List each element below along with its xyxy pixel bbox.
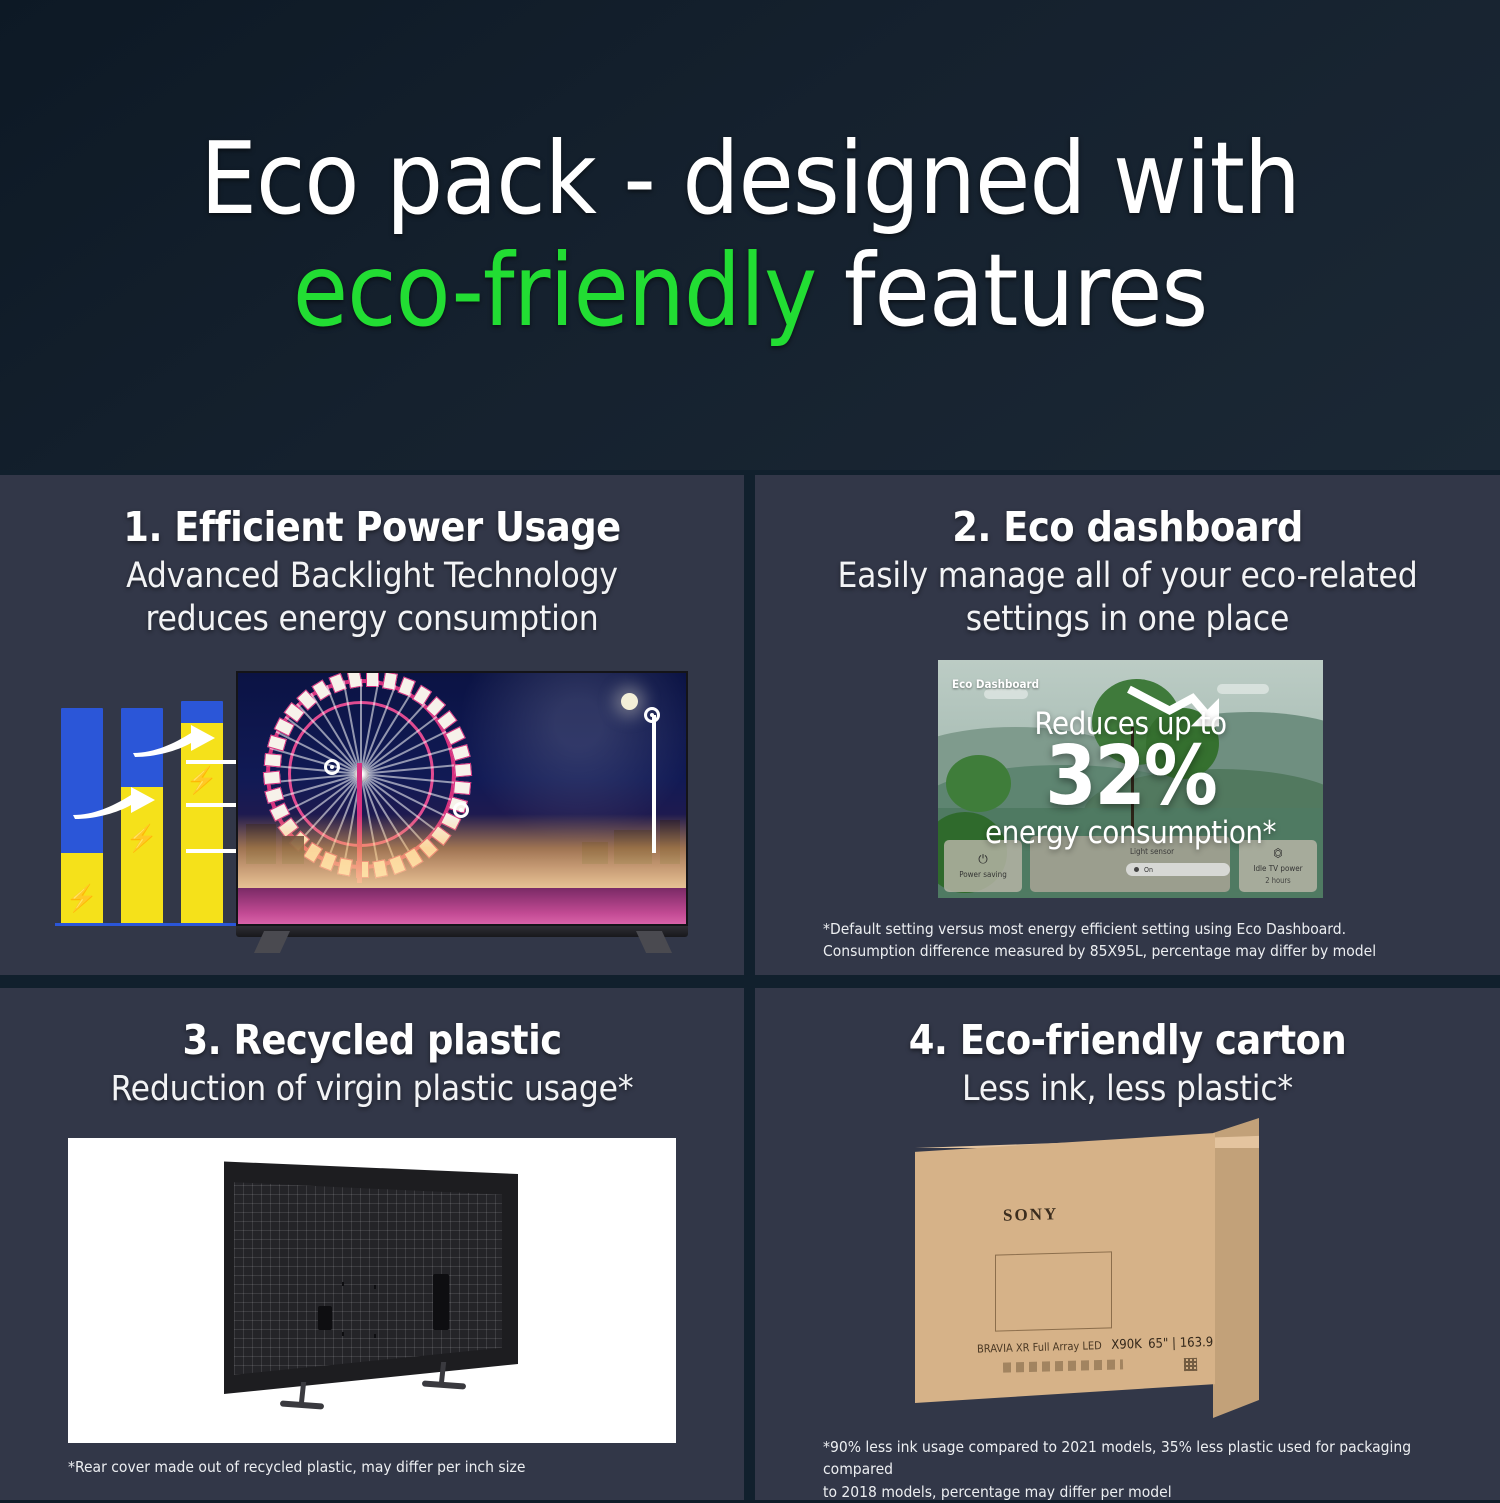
carton-tv-outline (995, 1251, 1112, 1331)
tv-stand-post-left (299, 1382, 306, 1404)
panel-2-footnote-line-1: *Default setting versus most energy effi… (823, 920, 1346, 938)
tv-stand-base-right (422, 1380, 466, 1389)
panel-2-footnote: *Default setting versus most energy effi… (823, 918, 1443, 963)
panel-4-footnote-line-2: to 2018 models, percentage may differ pe… (823, 1483, 1172, 1501)
tv-rear-illustration (218, 1154, 538, 1414)
panel-2-subtitle-line-2: settings in one place (966, 599, 1289, 639)
carton-model-line: BRAVIA XR Full Array LED (977, 1339, 1102, 1355)
tile-power-saving[interactable]: ⏻ Power saving (944, 840, 1022, 892)
carton-icon-strip (1003, 1359, 1123, 1372)
panel-1-subtitle-line-1: Advanced Backlight Technology (126, 556, 618, 596)
vesa-hole (374, 1285, 376, 1289)
power-usage-illustration: ⚡ ⚡ ⚡ (0, 665, 744, 955)
carton-front-face: SONY BRAVIA XR Full Array LED X90K 65" |… (915, 1133, 1215, 1403)
eco-settings-tiles: ⏻ Power saving Light sensor On ⏣ Idle TV… (938, 834, 1323, 892)
header-banner: Eco pack - designed with eco-friendly fe… (0, 0, 1500, 470)
city-lights-glow (238, 814, 686, 890)
sony-logo: SONY (1003, 1204, 1059, 1226)
tv-stand-base-left (280, 1400, 324, 1409)
backlight-vertical-line (652, 715, 656, 853)
foreground-ground (238, 888, 686, 924)
lightning-bolt-icon: ⚡ (66, 885, 98, 911)
light-sensor-toggle[interactable]: On (1126, 863, 1230, 876)
panel-1-title: 1. Efficient Power Usage (0, 475, 744, 551)
tv-rear-photo (68, 1138, 676, 1443)
vesa-hole (374, 1334, 376, 1338)
idle-tv-power-icon: ⏣ (1273, 847, 1282, 859)
panel-recycled-plastic: 3. Recycled plastic Reduction of virgin … (0, 988, 744, 1500)
lightning-bolt-icon: ⚡ (186, 767, 218, 793)
vesa-hole (342, 1332, 344, 1336)
panel-1-subtitle: Advanced Backlight Technology reduces en… (0, 555, 744, 640)
panel-4-subtitle: Less ink, less plastic* (755, 1068, 1500, 1111)
light-sensor-value: On (1144, 866, 1153, 874)
tile-idle-tv-power-label: Idle TV power (1253, 864, 1302, 873)
moon-icon (621, 693, 638, 710)
ferris-wheel-cabin (264, 753, 282, 768)
feature-grid: 1. Efficient Power Usage Advanced Backli… (0, 470, 1500, 1500)
headline-line-2: eco-friendly features (50, 235, 1450, 347)
radio-dot-icon (1134, 867, 1139, 872)
growth-arrow-icon (129, 723, 219, 759)
downward-trend-arrow-icon (1107, 684, 1253, 746)
headline-line-1: Eco pack - designed with (50, 123, 1450, 235)
carton-illustration: SONY BRAVIA XR Full Array LED X90K 65" |… (915, 1118, 1345, 1418)
panel-1-subtitle-line-2: reduces energy consumption (146, 599, 599, 639)
tv-stand-post-right (439, 1362, 446, 1384)
panel-efficient-power-usage: 1. Efficient Power Usage Advanced Backli… (0, 475, 744, 975)
eco-dashboard-screenshot: Eco Dashboard ⏻ Power saving Light senso… (938, 660, 1323, 898)
ferris-wheel-cabin (454, 763, 472, 778)
lightning-bolt-icon: ⚡ (126, 825, 158, 851)
panel-4-footnote: *90% less ink usage compared to 2021 mod… (823, 1436, 1483, 1503)
backlight-marker-dot (324, 759, 340, 775)
panel-2-subtitle: Easily manage all of your eco-related se… (755, 555, 1500, 640)
carton-model-code: X90K (1111, 1337, 1142, 1353)
chart-baseline (55, 923, 240, 926)
energy-bar-chart: ⚡ ⚡ ⚡ (55, 685, 240, 935)
panel-3-footnote: *Rear cover made out of recycled plastic… (68, 1456, 708, 1478)
power-saving-icon: ⏻ (978, 853, 988, 865)
carton-model-text: BRAVIA XR Full Array LED X90K 65" | 163.… (977, 1334, 1235, 1356)
tile-light-sensor[interactable]: Light sensor On (1030, 836, 1230, 892)
ferris-wheel-cabin (263, 771, 281, 786)
tv-screen (236, 671, 688, 926)
cable-recess (318, 1306, 332, 1330)
eco-dashboard-label: Eco Dashboard (952, 677, 1039, 691)
page-title: Eco pack - designed with eco-friendly fe… (50, 123, 1450, 347)
carton-side-face (1213, 1118, 1259, 1418)
tile-idle-tv-power[interactable]: ⏣ Idle TV power 2 hours (1239, 840, 1317, 892)
panel-eco-dashboard: 2. Eco dashboard Easily manage all of yo… (755, 475, 1500, 975)
panel-3-title: 3. Recycled plastic (0, 988, 744, 1064)
ferris-wheel-cabin (453, 781, 471, 796)
headline-line-2-rest: features (816, 232, 1207, 349)
growth-arrow-icon (69, 785, 159, 821)
backlight-marker-dot (453, 802, 469, 818)
ferris-wheel-cabin (451, 744, 471, 761)
tile-power-saving-label: Power saving (959, 870, 1007, 879)
tile-light-sensor-label: Light sensor (1130, 847, 1174, 856)
panel-2-footnote-line-2: Consumption difference measured by 85X95… (823, 942, 1376, 960)
panel-3-subtitle: Reduction of virgin plastic usage* (0, 1068, 744, 1111)
tv-bottom-bezel (236, 926, 688, 937)
tv-front-illustration (228, 665, 698, 953)
port-recess (433, 1274, 449, 1330)
panel-eco-friendly-carton: 4. Eco-friendly carton Less ink, less pl… (755, 988, 1500, 1500)
panel-2-title: 2. Eco dashboard (755, 475, 1500, 551)
panel-2-subtitle-line-1: Easily manage all of your eco-related (837, 556, 1417, 596)
headline-accent-text: eco-friendly (293, 232, 817, 349)
eco-pack-infographic: Eco pack - designed with eco-friendly fe… (0, 0, 1500, 1500)
panel-4-title: 4. Eco-friendly carton (755, 988, 1500, 1064)
tree-icon (946, 755, 1011, 812)
qr-code-icon (1184, 1358, 1197, 1371)
vesa-hole (342, 1282, 344, 1286)
tile-idle-tv-power-value: 2 hours (1265, 876, 1290, 885)
panel-4-footnote-line-1: *90% less ink usage compared to 2021 mod… (823, 1438, 1411, 1478)
